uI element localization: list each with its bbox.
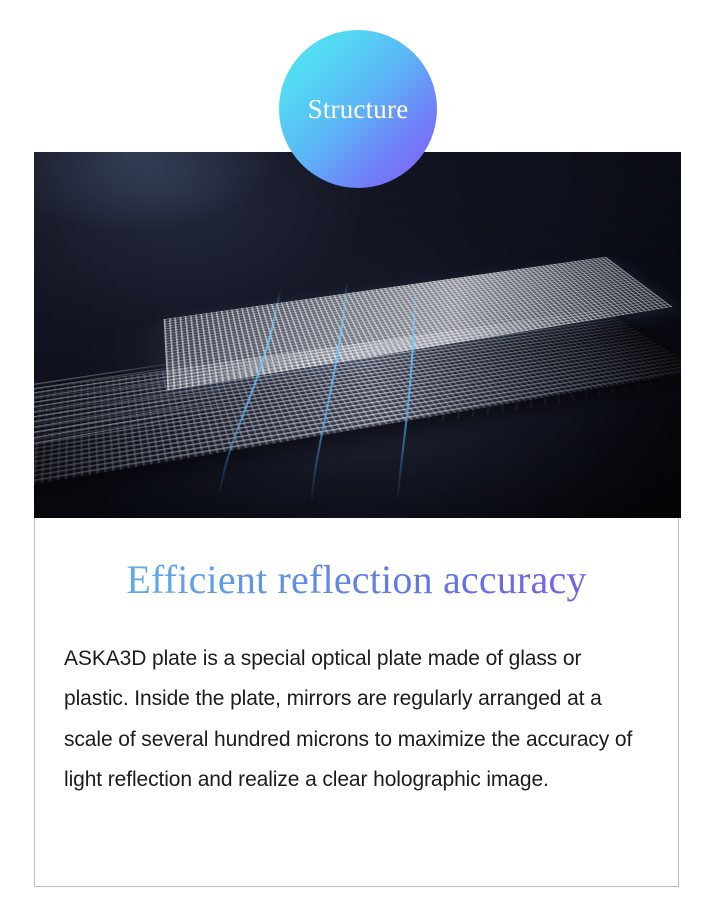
structure-feature-card: Structure Efficient reflection accuracy … (0, 0, 716, 912)
card-heading: Efficient reflection accuracy (35, 518, 678, 602)
light-ray-icon (34, 152, 681, 518)
structure-badge-label: Structure (308, 96, 409, 123)
hero-illustration (34, 152, 681, 518)
hero-scene (34, 152, 681, 518)
description-card: Efficient reflection accuracy ASKA3D pla… (34, 518, 679, 887)
card-body-text: ASKA3D plate is a special optical plate … (35, 602, 678, 800)
structure-badge: Structure (279, 30, 437, 188)
